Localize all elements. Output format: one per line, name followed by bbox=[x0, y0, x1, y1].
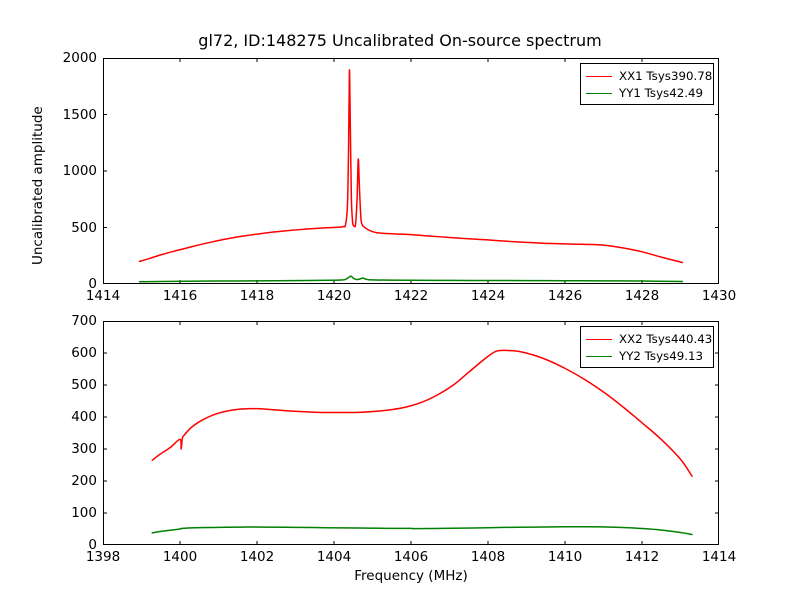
y-tick-label: 200 bbox=[45, 473, 97, 489]
series-line bbox=[152, 527, 692, 535]
y-tick-label: 500 bbox=[45, 377, 97, 393]
y-tick-label: 0 bbox=[45, 537, 97, 553]
y-tick-label: 0 bbox=[45, 276, 97, 292]
y-tick-label: 700 bbox=[45, 313, 97, 329]
legend-label: YY2 Tsys49.13 bbox=[619, 348, 703, 365]
x-tick-label: 1410 bbox=[548, 549, 582, 565]
legend-color-swatch bbox=[586, 93, 612, 94]
x-axis-label: Frequency (MHz) bbox=[354, 568, 467, 584]
x-tick-label: 1418 bbox=[240, 288, 274, 304]
legend-entry: YY2 Tsys49.13 bbox=[586, 348, 707, 365]
figure-canvas: gl72, ID:148275 Uncalibrated On-source s… bbox=[0, 0, 800, 600]
x-tick-label: 1402 bbox=[240, 549, 274, 565]
legend-label: XX1 Tsys390.78 bbox=[619, 68, 712, 85]
x-tick-label: 1424 bbox=[471, 288, 505, 304]
y-tick-label: 500 bbox=[45, 220, 97, 236]
x-tick-label: 1414 bbox=[702, 549, 736, 565]
y-tick-label: 100 bbox=[45, 505, 97, 521]
series-line bbox=[152, 350, 692, 476]
x-tick-label: 1406 bbox=[394, 549, 428, 565]
legend-entry: YY1 Tsys42.49 bbox=[586, 85, 707, 102]
legend-color-swatch bbox=[586, 356, 612, 357]
y-tick-label: 1000 bbox=[45, 163, 97, 179]
legend-label: XX2 Tsys440.43 bbox=[619, 331, 712, 348]
y-tick-label: 600 bbox=[45, 345, 97, 361]
bottom-legend: XX2 Tsys440.43YY2 Tsys49.13 bbox=[580, 326, 714, 368]
top-legend: XX1 Tsys390.78YY1 Tsys42.49 bbox=[580, 63, 714, 105]
legend-label: YY1 Tsys42.49 bbox=[619, 85, 703, 102]
y-tick-label: 2000 bbox=[45, 50, 97, 66]
series-line bbox=[140, 276, 683, 282]
x-tick-label: 1420 bbox=[317, 288, 351, 304]
x-tick-label: 1400 bbox=[163, 549, 197, 565]
x-tick-label: 1422 bbox=[394, 288, 428, 304]
x-tick-label: 1408 bbox=[471, 549, 505, 565]
figure-title: gl72, ID:148275 Uncalibrated On-source s… bbox=[0, 31, 800, 50]
legend-color-swatch bbox=[586, 339, 612, 340]
y-axis-label: Uncalibrated amplitude bbox=[30, 106, 46, 265]
y-tick-label: 1500 bbox=[45, 107, 97, 123]
y-tick-label: 400 bbox=[45, 409, 97, 425]
x-tick-label: 1404 bbox=[317, 549, 351, 565]
legend-entry: XX1 Tsys390.78 bbox=[586, 68, 707, 85]
x-tick-label: 1430 bbox=[702, 288, 736, 304]
legend-entry: XX2 Tsys440.43 bbox=[586, 331, 707, 348]
y-tick-label: 300 bbox=[45, 441, 97, 457]
legend-color-swatch bbox=[586, 76, 612, 77]
x-tick-label: 1426 bbox=[548, 288, 582, 304]
x-tick-label: 1428 bbox=[625, 288, 659, 304]
x-tick-label: 1416 bbox=[163, 288, 197, 304]
x-tick-label: 1412 bbox=[625, 549, 659, 565]
